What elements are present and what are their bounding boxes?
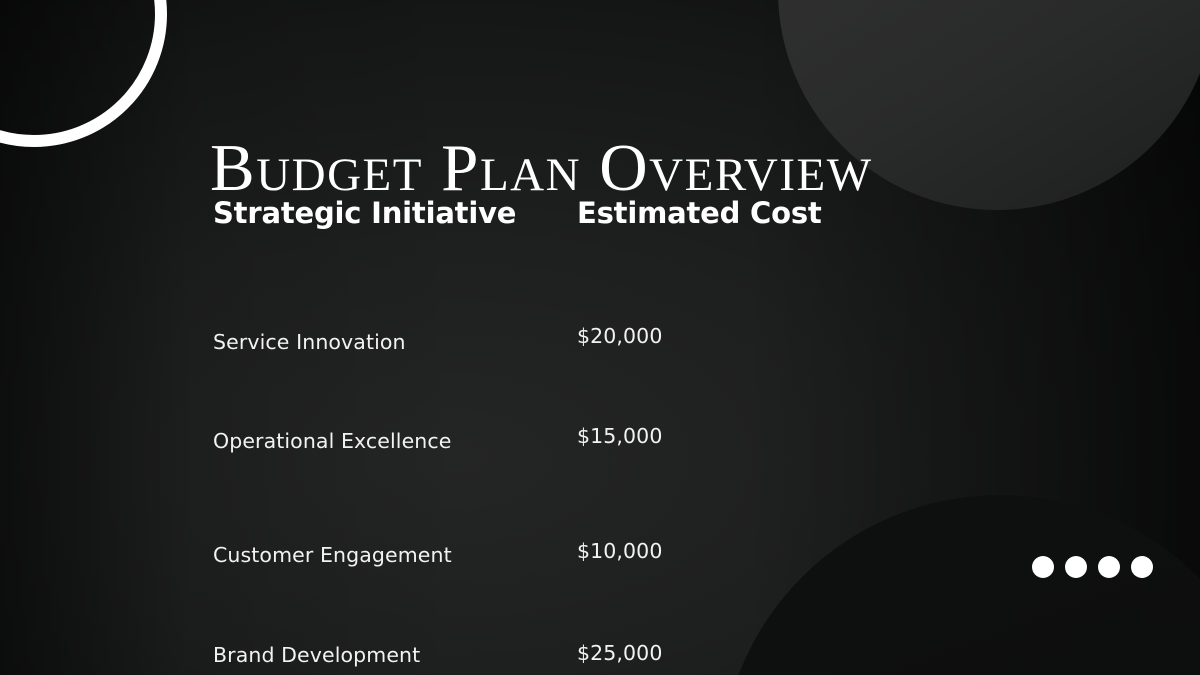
column-header-strategic-initiative: Strategic Initiative [213,196,516,230]
page-dot-icon[interactable] [1131,556,1153,578]
slide-content: Budget Plan Overview Strategic Initiativ… [0,0,1200,675]
table-row: Operational Excellence $15,000 [213,310,1043,360]
cell-initiative: Brand Development [213,643,543,668]
table-row: Brand Development $25,000 [213,410,1043,460]
slide: Budget Plan Overview Strategic Initiativ… [0,0,1200,675]
table-body: Service Innovation $20,000 Operational E… [213,260,1043,510]
table-header-row: Strategic Initiative Estimated Cost [213,196,1043,246]
cell-initiative: Customer Engagement [213,543,543,568]
column-header-estimated-cost: Estimated Cost [577,196,822,230]
page-dot-icon[interactable] [1065,556,1087,578]
table-row: Customer Engagement $10,000 [213,360,1043,410]
table-row: Service Innovation $20,000 [213,260,1043,310]
page-dot-icon[interactable] [1032,556,1054,578]
page-title: Budget Plan Overview [210,133,873,203]
page-indicator[interactable] [1032,556,1153,578]
page-dot-icon[interactable] [1098,556,1120,578]
budget-table: Strategic Initiative Estimated Cost Serv… [213,196,1043,510]
cell-cost: $25,000 [577,641,837,666]
table-row: Employee Development $30,000 [213,460,1043,510]
cell-cost: $10,000 [577,539,837,564]
